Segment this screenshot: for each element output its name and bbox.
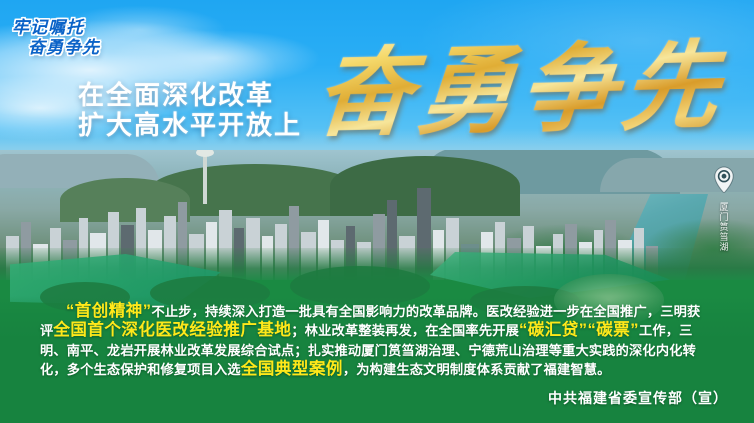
headline-line-1: 在全面深化改革 [78,80,302,110]
body-highlight-shouchuangjingshen: “首创精神” [66,302,152,320]
body-highlight-yigaijidi: 全国首个深化医改经验推广基地 [53,321,291,339]
calligraphy-title: 奋勇争先 [311,32,729,151]
body-paragraph: “首创精神”不止步，持续深入打造一批具有全国影响力的改革品牌。医改经验进一步在全… [40,302,712,380]
body-text-1: 不止步，持续深入打造一批具有全国影响力的改革品牌。医改经验进一步在全国推广， [152,304,661,319]
map-pin-icon [706,166,742,199]
campaign-logo: 牢记嘱托 奋勇争先 [12,18,120,62]
location-marker-label: 厦门筼筜湖 [718,202,731,252]
body-highlight-dianxinganli: 全国典型案例 [241,360,343,378]
campaign-logo-line-1: 牢记嘱托 [12,18,120,38]
tv-tower [203,150,207,204]
body-text-3: ；林业改革整装再发，在全国率先开展 [291,323,519,338]
body-text-7: 福建智慧。 [544,362,611,377]
location-marker: 厦门筼筜湖 [706,166,742,252]
headline-line-2: 扩大高水平开放上 [78,110,302,140]
body-text-6: ，为构建生态文明制度体系贡献了 [343,362,544,377]
body-highlight-tanpiao: “碳票” [587,321,639,339]
poster-canvas: 牢记嘱托 奋勇争先 在全面深化改革 扩大高水平开放上 奋勇争先 厦门筼筜湖 “首… [0,0,754,423]
campaign-logo-line-2: 奋勇争先 [28,38,120,58]
body-highlight-tanhuidai: “碳汇贷” [519,321,588,339]
publisher-signature: 中共福建省委宣传部（宣） [548,388,728,408]
page-headline: 在全面深化改革 扩大高水平开放上 [78,80,302,140]
